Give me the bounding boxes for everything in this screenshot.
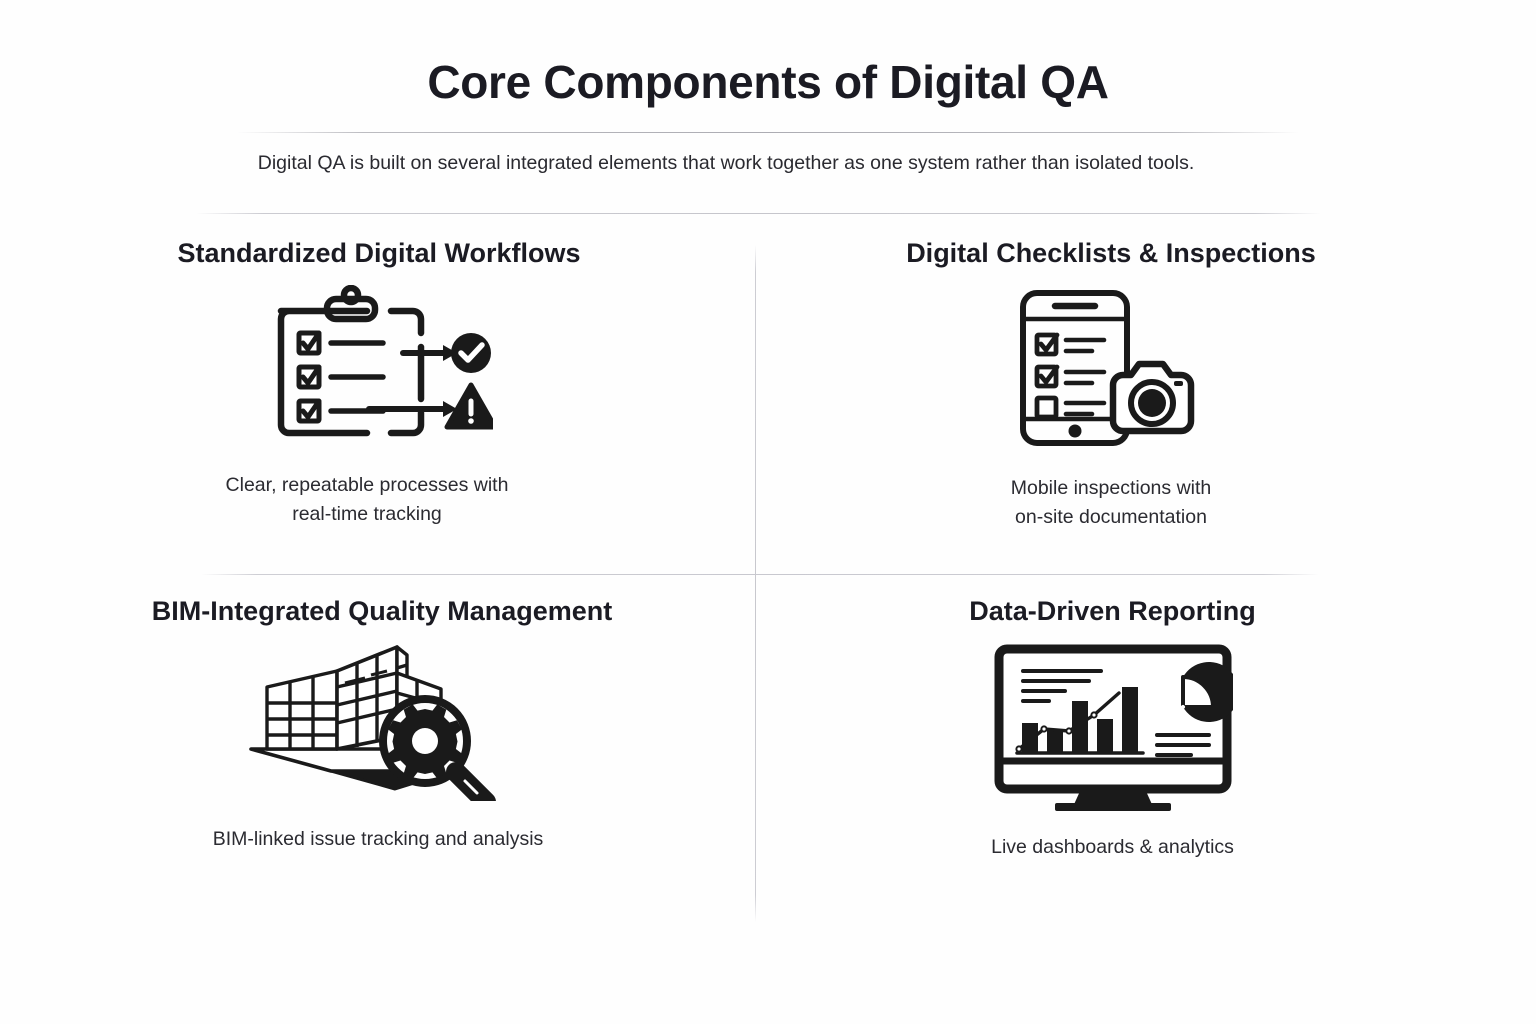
header: Core Components of Digital QA Digital QA… <box>0 0 1536 109</box>
component-title: Digital Checklists & Inspections <box>906 232 1316 269</box>
components-grid: Standardized Digital Workflows <box>0 232 1452 922</box>
page-title: Core Components of Digital QA <box>0 0 1536 109</box>
monitor-dashboard-charts-icon <box>993 643 1233 811</box>
title-divider <box>237 132 1299 133</box>
clipboard-checklist-outcomes-icon <box>263 285 493 445</box>
infographic-page: Core Components of Digital QA Digital QA… <box>0 0 1536 1024</box>
component-caption: BIM-linked issue tracking and analysis <box>213 825 544 853</box>
component-title: BIM-Integrated Quality Management <box>152 574 613 627</box>
page-subtitle: Digital QA is built on several integrate… <box>0 150 1452 176</box>
component-title: Data-Driven Reporting <box>969 574 1256 627</box>
mobile-checklist-camera-icon <box>1011 285 1211 450</box>
component-card-bim-integrated-quality-management: BIM-Integrated Quality Management <box>0 574 756 922</box>
building-magnifier-gear-icon <box>245 641 510 801</box>
component-title: Standardized Digital Workflows <box>177 232 580 269</box>
component-caption: Live dashboards & analytics <box>991 833 1234 861</box>
component-caption: Mobile inspections with on-site document… <box>1011 474 1212 531</box>
component-card-data-driven-reporting: Data-Driven Reporting Live dashboards & … <box>756 574 1452 922</box>
component-caption: Clear, repeatable processes with real-ti… <box>226 471 509 528</box>
component-card-digital-checklists-inspections: Digital Checklists & Inspections <box>756 232 1452 574</box>
component-card-standardized-digital-workflows: Standardized Digital Workflows <box>0 232 756 574</box>
section-divider-top <box>196 213 1321 214</box>
